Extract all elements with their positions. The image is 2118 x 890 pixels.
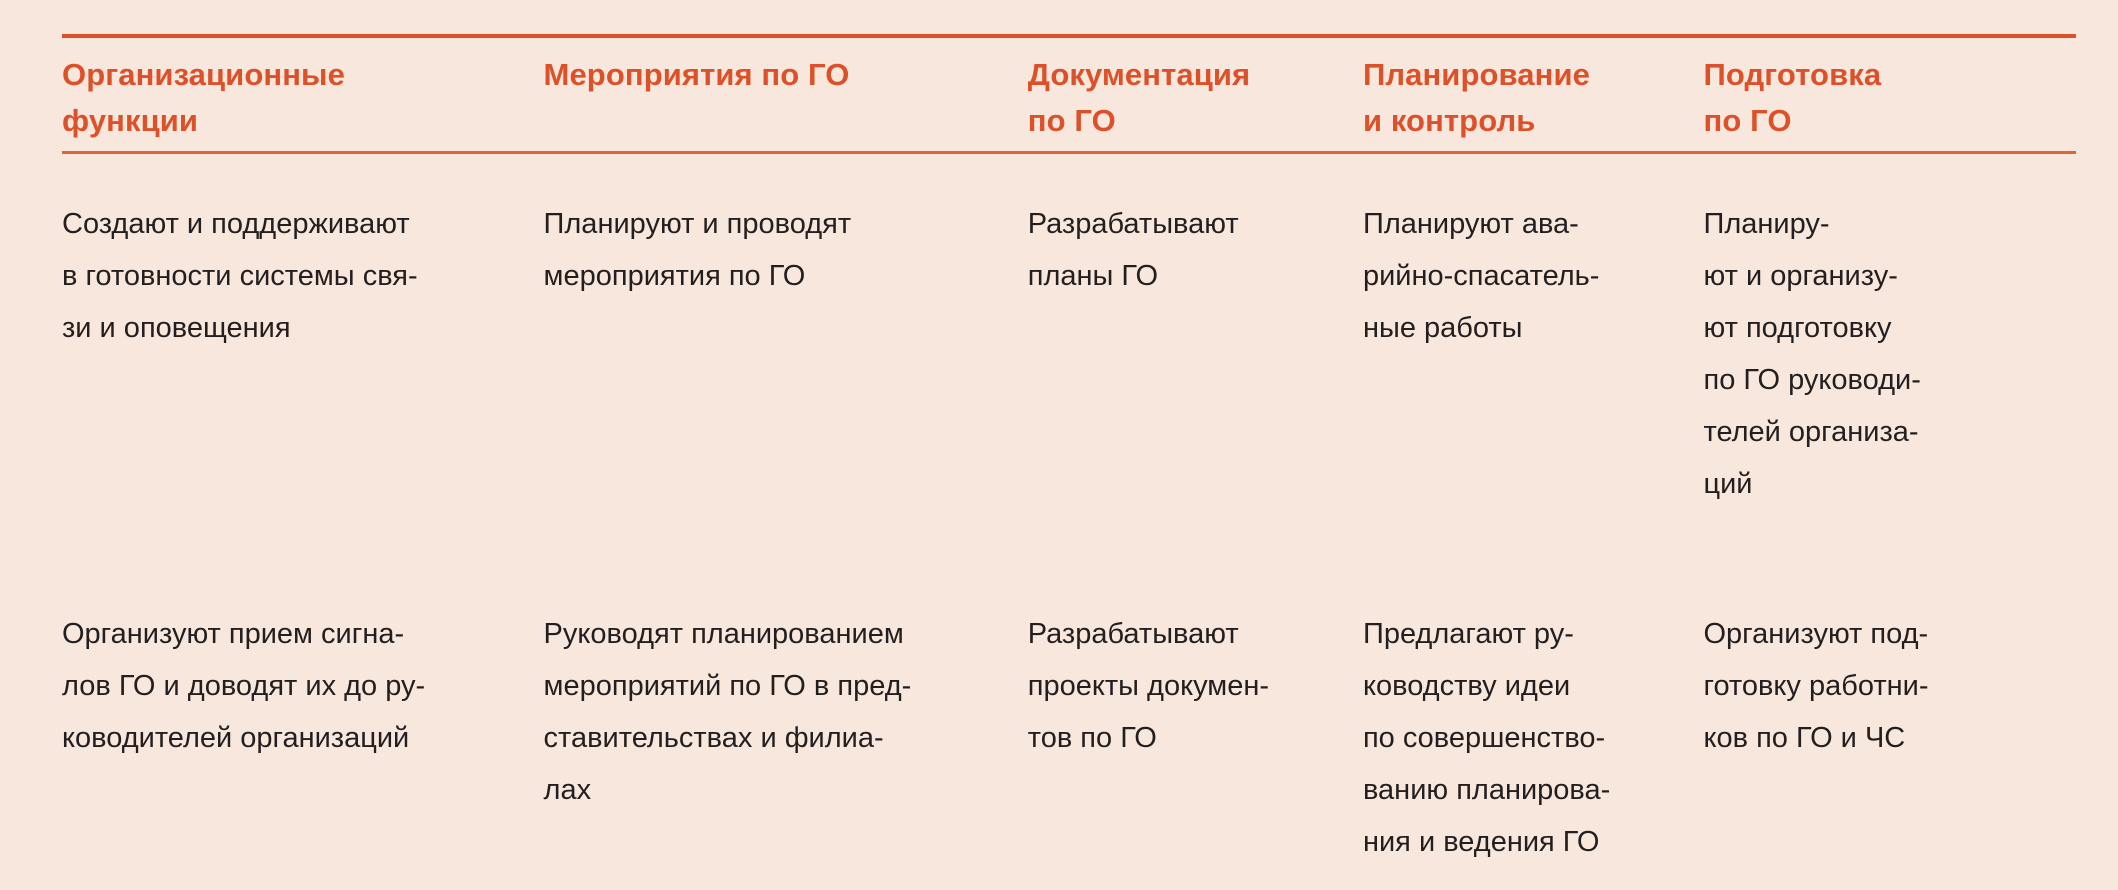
column-header-training: Подготовка по ГО xyxy=(1704,38,2077,170)
table-cell: Планируют и проводят мероприятия по ГО xyxy=(544,170,1028,598)
cell-line: Организуют прием сигна- xyxy=(62,608,522,660)
cell-line: ванию планирова- xyxy=(1363,764,1682,816)
cell-line: Создают и поддерживают xyxy=(62,198,522,250)
header-line: Мероприятия по ГО xyxy=(544,52,1006,98)
cell-line: Руководят планированием xyxy=(544,608,1006,660)
column-header-documentation: Документация по ГО xyxy=(1028,38,1363,170)
cell-line: зи и оповещения xyxy=(62,302,522,354)
cell-line: лов ГО и доводят их до ру- xyxy=(62,660,522,712)
cell-line: ций xyxy=(1704,458,2055,510)
table-cell: Организуют под- готовку работни- ков по … xyxy=(1704,598,2077,868)
table-cell: Организуют прием сигна- лов ГО и доводят… xyxy=(62,598,544,868)
header-line: функции xyxy=(62,98,522,144)
cell-line: готовку работни- xyxy=(1704,660,2055,712)
table-container: Организационные функции Мероприятия по Г… xyxy=(0,0,2118,890)
cell-line: мероприятия по ГО xyxy=(544,250,1006,302)
table-body: Создают и поддерживают в готовности сист… xyxy=(62,170,2076,868)
table-row: Создают и поддерживают в готовности сист… xyxy=(62,170,2076,598)
cell-line: лах xyxy=(544,764,1006,816)
cell-line: проекты докумен- xyxy=(1028,660,1341,712)
table-cell: Планируют ава- рийно-спасатель- ные рабо… xyxy=(1363,170,1704,598)
cell-line: мероприятий по ГО в пред- xyxy=(544,660,1006,712)
cell-line: Планируют и проводят xyxy=(544,198,1006,250)
cell-line: по совершенство- xyxy=(1363,712,1682,764)
civil-defense-functions-table: Организационные функции Мероприятия по Г… xyxy=(62,38,2076,868)
header-line: Организационные xyxy=(62,52,522,98)
cell-line: Разрабатывают xyxy=(1028,608,1341,660)
cell-line: ют и организу- xyxy=(1704,250,2055,302)
cell-line: тов по ГО xyxy=(1028,712,1341,764)
table-row: Организуют прием сигна- лов ГО и доводят… xyxy=(62,598,2076,868)
cell-line: планы ГО xyxy=(1028,250,1341,302)
table-cell: Руководят планированием мероприятий по Г… xyxy=(544,598,1028,868)
column-header-organizational-functions: Организационные функции xyxy=(62,38,544,170)
header-line: по ГО xyxy=(1704,98,2055,144)
cell-line: рийно-спасатель- xyxy=(1363,250,1682,302)
table-cell: Планиру- ют и организу- ют подготовку по… xyxy=(1704,170,2077,598)
table-header-row: Организационные функции Мероприятия по Г… xyxy=(62,38,2076,170)
header-line: Планирование xyxy=(1363,52,1682,98)
header-line: Документация xyxy=(1028,52,1341,98)
cell-line: ков по ГО и ЧС xyxy=(1704,712,2055,764)
cell-line: Разрабатывают xyxy=(1028,198,1341,250)
table-cell: Создают и поддерживают в готовности сист… xyxy=(62,170,544,598)
table-cell: Разрабатывают планы ГО xyxy=(1028,170,1363,598)
cell-line: ководству идеи xyxy=(1363,660,1682,712)
cell-line: ния и ведения ГО xyxy=(1363,816,1682,868)
table-cell: Разрабатывают проекты докумен- тов по ГО xyxy=(1028,598,1363,868)
column-header-planning-and-control: Планирование и контроль xyxy=(1363,38,1704,170)
header-line: и контроль xyxy=(1363,98,1682,144)
cell-line: Организуют под- xyxy=(1704,608,2055,660)
cell-line: Предлагают ру- xyxy=(1363,608,1682,660)
table-header: Организационные функции Мероприятия по Г… xyxy=(62,38,2076,170)
cell-line: ют подготовку xyxy=(1704,302,2055,354)
table-cell: Предлагают ру- ководству идеи по соверше… xyxy=(1363,598,1704,868)
cell-line: по ГО руководи- xyxy=(1704,354,2055,406)
header-line: по ГО xyxy=(1028,98,1341,144)
cell-line: Планируют ава- xyxy=(1363,198,1682,250)
cell-line: в готовности системы свя- xyxy=(62,250,522,302)
cell-line: ководителей организаций xyxy=(62,712,522,764)
header-line: Подготовка xyxy=(1704,52,2055,98)
column-header-measures: Мероприятия по ГО xyxy=(544,38,1028,170)
cell-line: ставительствах и филиа- xyxy=(544,712,1006,764)
cell-line: ные работы xyxy=(1363,302,1682,354)
cell-line: Планиру- xyxy=(1704,198,2055,250)
cell-line: телей организа- xyxy=(1704,406,2055,458)
